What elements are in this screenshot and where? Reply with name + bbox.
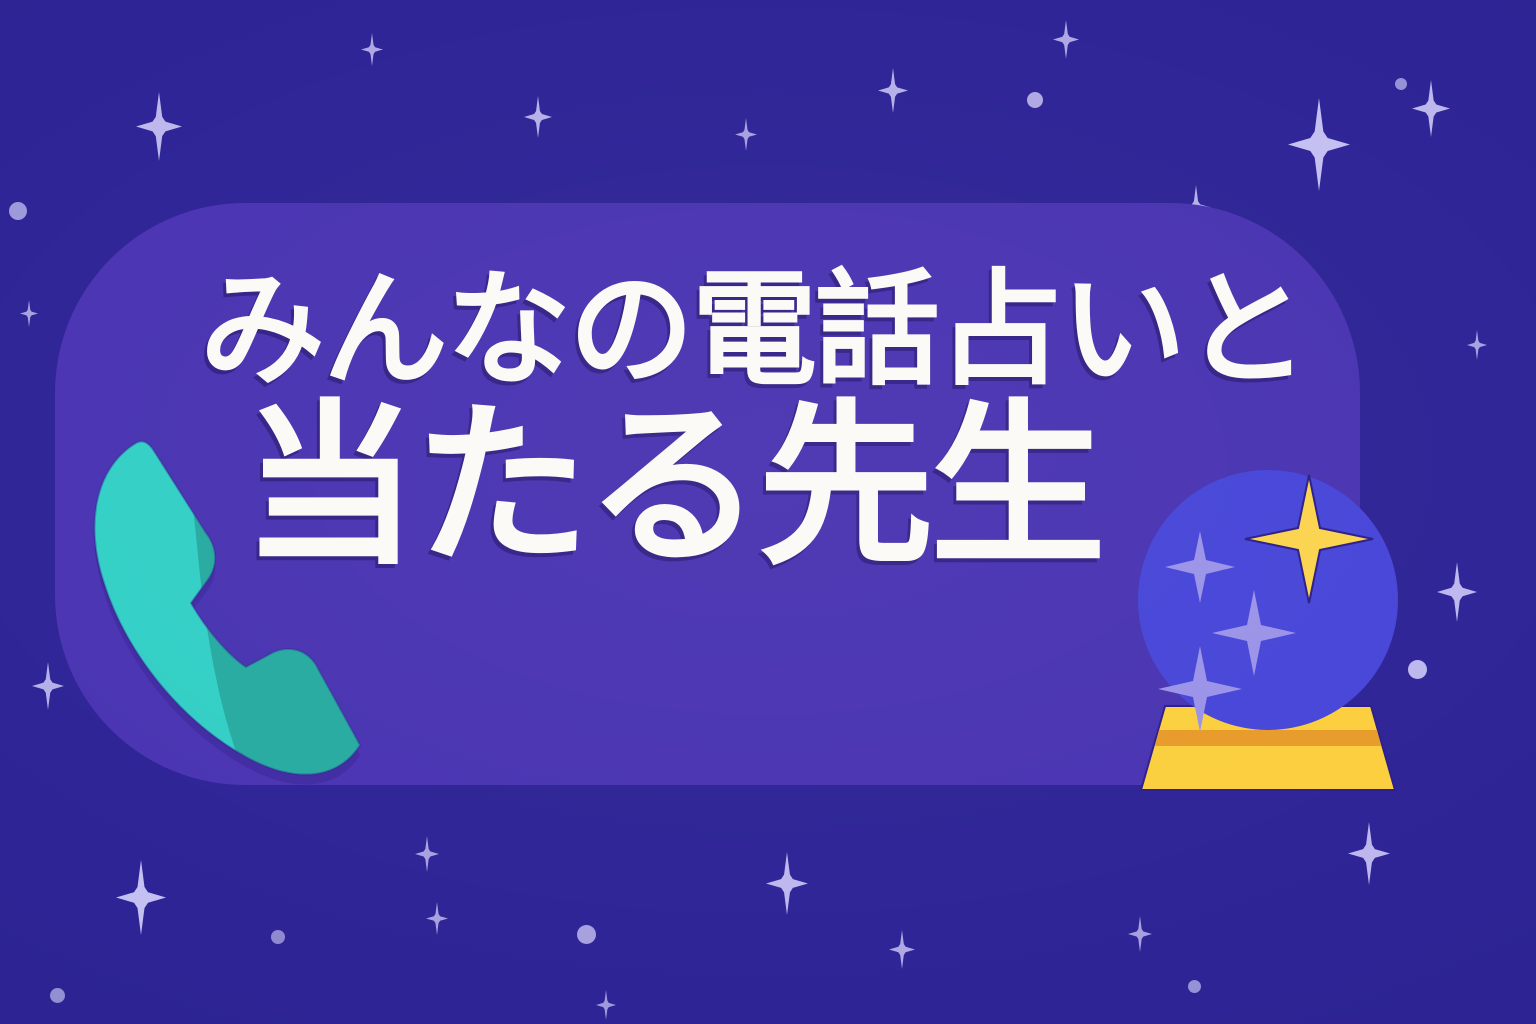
- background-dot: [1188, 980, 1201, 993]
- background-sparkle: [32, 662, 64, 710]
- background-sparkle: [20, 300, 38, 327]
- background-dot: [9, 202, 27, 220]
- background-sparkle: [1348, 822, 1390, 885]
- poster-canvas: みんなの電話占いと 当たる先生: [0, 0, 1536, 1024]
- headline-line-1: みんなの電話占いと: [200, 268, 1320, 393]
- background-sparkle: [889, 930, 915, 969]
- background-sparkle: [415, 836, 439, 872]
- background-sparkle: [1288, 98, 1350, 191]
- background-sparkle: [735, 118, 757, 151]
- crystal-ball-icon: [1133, 468, 1403, 798]
- background-sparkle: [878, 68, 908, 113]
- background-sparkle: [1437, 562, 1477, 622]
- background-sparkle: [524, 96, 552, 138]
- background-dot: [1395, 78, 1407, 90]
- background-dot: [1408, 660, 1427, 679]
- background-sparkle: [1412, 80, 1450, 137]
- background-dot: [1027, 92, 1043, 108]
- background-sparkle: [766, 852, 808, 915]
- background-sparkle: [361, 33, 383, 66]
- background-dot: [271, 930, 285, 944]
- background-dot: [50, 988, 65, 1003]
- background-sparkle: [1053, 20, 1079, 59]
- background-sparkle: [426, 902, 448, 935]
- background-sparkle: [596, 990, 616, 1020]
- background-sparkle: [116, 860, 166, 935]
- background-sparkle: [1128, 916, 1152, 952]
- telephone-handset-icon: [78, 415, 378, 790]
- background-dot: [577, 925, 596, 944]
- background-sparkle: [1467, 330, 1487, 360]
- background-sparkle: [136, 92, 182, 161]
